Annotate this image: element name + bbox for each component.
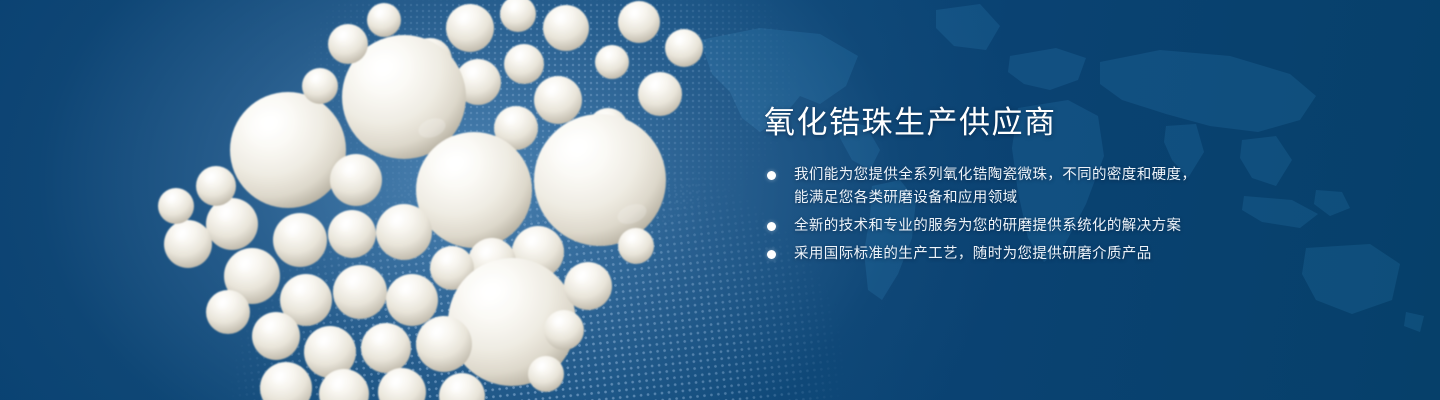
zirconia-beads-image	[0, 0, 760, 400]
list-item-line-2: 能满足您各类研磨设备和应用领域	[794, 187, 1324, 210]
list-item: 全新的技术和专业的服务为您的研磨提供系统化的解决方案	[764, 215, 1324, 238]
hero-banner: 氧化锆珠生产供应商 我们能为您提供全系列氧化锆陶瓷微珠，不同的密度和硬度， 能满…	[0, 0, 1440, 400]
list-item: 采用国际标准的生产工艺，随时为您提供研磨介质产品	[764, 243, 1324, 266]
list-item-line-1: 采用国际标准的生产工艺，随时为您提供研磨介质产品	[794, 246, 1152, 262]
halftone-dot-texture	[0, 0, 885, 400]
bullet-dot-icon	[767, 222, 776, 231]
bullet-dot-icon	[767, 250, 776, 259]
list-item: 我们能为您提供全系列氧化锆陶瓷微珠，不同的密度和硬度， 能满足您各类研磨设备和应…	[764, 164, 1324, 210]
list-item-line-1: 我们能为您提供全系列氧化锆陶瓷微珠，不同的密度和硬度，	[794, 167, 1196, 183]
page-title: 氧化锆珠生产供应商	[764, 104, 1324, 142]
feature-list: 我们能为您提供全系列氧化锆陶瓷微珠，不同的密度和硬度， 能满足您各类研磨设备和应…	[764, 164, 1324, 266]
bullet-dot-icon	[767, 171, 776, 180]
list-item-line-1: 全新的技术和专业的服务为您的研磨提供系统化的解决方案	[794, 218, 1181, 234]
banner-copy: 氧化锆珠生产供应商 我们能为您提供全系列氧化锆陶瓷微珠，不同的密度和硬度， 能满…	[764, 104, 1324, 271]
